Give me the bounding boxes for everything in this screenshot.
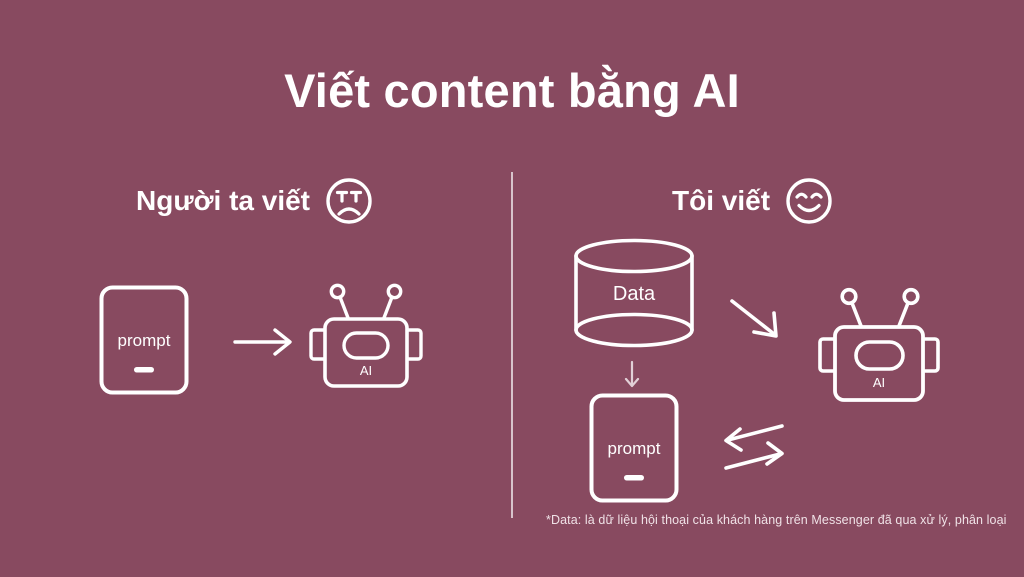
slide-canvas: Viết content bằng AI Người ta viết Tôi v… [0,0,1024,577]
right-column-heading: Tôi viết [672,176,834,226]
right-prompt-card: prompt [589,393,679,503]
right-heading-label: Tôi viết [672,185,770,217]
column-divider [511,172,513,518]
data-to-robot-arrow-icon [728,296,788,344]
left-arrow-right-icon [232,325,298,359]
left-prompt-card: prompt [99,285,189,395]
data-store-icon: Data [572,238,696,350]
left-heading-label: Người ta viết [136,185,310,217]
happy-face-icon [784,176,834,226]
page-title: Viết content bằng AI [0,64,1024,118]
sad-face-icon [324,176,374,226]
footnote-text: *Data: là dữ liệu hội thoại của khách hà… [546,513,1007,527]
prompt-robot-exchange-arrows-icon [718,418,790,476]
left-column-heading: Người ta viết [136,176,374,226]
left-robot-icon: AI [306,279,426,391]
data-to-prompt-arrow-down-icon [619,360,645,390]
right-robot-icon: AI [815,281,943,405]
